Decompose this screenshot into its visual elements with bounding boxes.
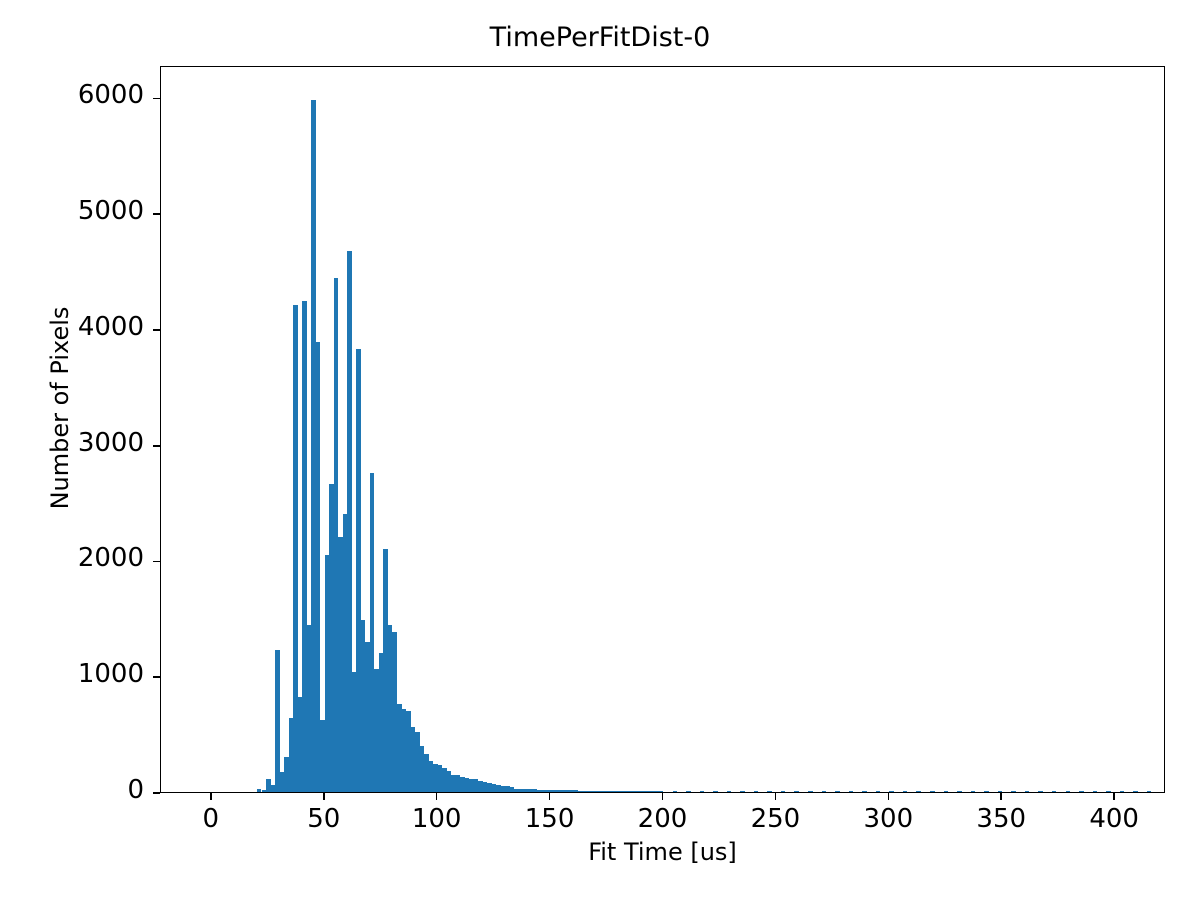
histogram-bar: [808, 791, 813, 792]
y-tick-mark: [153, 445, 160, 447]
x-tick-mark: [549, 793, 551, 800]
histogram-bar: [713, 791, 718, 792]
x-tick-label: 400: [1054, 804, 1174, 834]
x-tick-mark: [323, 793, 325, 800]
histogram-bar: [1066, 791, 1071, 792]
histogram-bar: [781, 791, 786, 792]
histogram-bar: [767, 791, 772, 792]
histogram-bar: [889, 791, 894, 792]
histogram-bar: [1052, 791, 1057, 792]
histogram-bar: [686, 791, 691, 792]
histogram-bar: [275, 650, 280, 792]
histogram-bar: [754, 791, 759, 792]
x-tick-label: 250: [715, 804, 835, 834]
histogram-bar: [971, 791, 976, 792]
y-tick-label: 0: [0, 775, 144, 805]
x-tick-label: 150: [490, 804, 610, 834]
y-tick-mark: [153, 213, 160, 215]
histogram-bar: [1025, 791, 1030, 792]
y-tick-mark: [153, 676, 160, 678]
histogram-bar: [727, 791, 732, 792]
histogram-bar: [700, 791, 705, 792]
y-tick-mark: [153, 561, 160, 563]
histogram-bar: [944, 791, 949, 792]
x-tick-label: 100: [377, 804, 497, 834]
histogram-bar: [659, 791, 664, 792]
x-tick-mark: [210, 793, 212, 800]
x-tick-mark: [775, 793, 777, 800]
y-tick-mark: [153, 329, 160, 331]
histogram-bar: [1079, 791, 1084, 792]
histogram-bar: [1147, 791, 1152, 792]
chart-figure: TimePerFitDist-0 01000200030004000500060…: [0, 0, 1200, 900]
x-tick-label: 0: [151, 804, 271, 834]
histogram-bar: [1133, 791, 1138, 792]
histogram-bar: [1011, 791, 1016, 792]
histogram-bar: [740, 791, 745, 792]
y-tick-label: 6000: [0, 80, 144, 110]
x-tick-label: 300: [828, 804, 948, 834]
histogram-bar: [998, 791, 1003, 792]
x-tick-label: 200: [603, 804, 723, 834]
x-tick-label: 50: [264, 804, 384, 834]
histogram-bar: [1038, 791, 1043, 792]
histogram-bar: [903, 791, 908, 792]
y-tick-label: 5000: [0, 196, 144, 226]
histogram-bar: [957, 791, 962, 792]
y-axis-label: Number of Pixels: [46, 228, 74, 588]
histogram-bar: [822, 791, 827, 792]
histogram-bar: [1120, 791, 1125, 792]
histogram-bar: [794, 791, 799, 792]
histogram-bar: [849, 791, 854, 792]
x-tick-mark: [1000, 793, 1002, 800]
y-tick-mark: [153, 98, 160, 100]
histogram-bar: [916, 791, 921, 792]
x-tick-mark: [888, 793, 890, 800]
histogram-bar: [862, 791, 867, 792]
x-tick-label: 350: [941, 804, 1061, 834]
histogram-bar: [673, 791, 678, 792]
histogram-bar: [984, 791, 989, 792]
histogram-bar: [835, 791, 840, 792]
x-tick-mark: [436, 793, 438, 800]
histogram-bar: [1106, 791, 1111, 792]
histogram-bars: [161, 67, 1164, 792]
y-tick-mark: [153, 792, 160, 794]
x-tick-mark: [662, 793, 664, 800]
chart-title: TimePerFitDist-0: [0, 22, 1200, 53]
x-tick-mark: [1113, 793, 1115, 800]
histogram-bar: [876, 791, 881, 792]
histogram-bar: [1093, 791, 1098, 792]
y-tick-label: 1000: [0, 659, 144, 689]
plot-area: [160, 66, 1165, 793]
x-axis-label: Fit Time [us]: [160, 838, 1165, 866]
histogram-bar: [930, 791, 935, 792]
